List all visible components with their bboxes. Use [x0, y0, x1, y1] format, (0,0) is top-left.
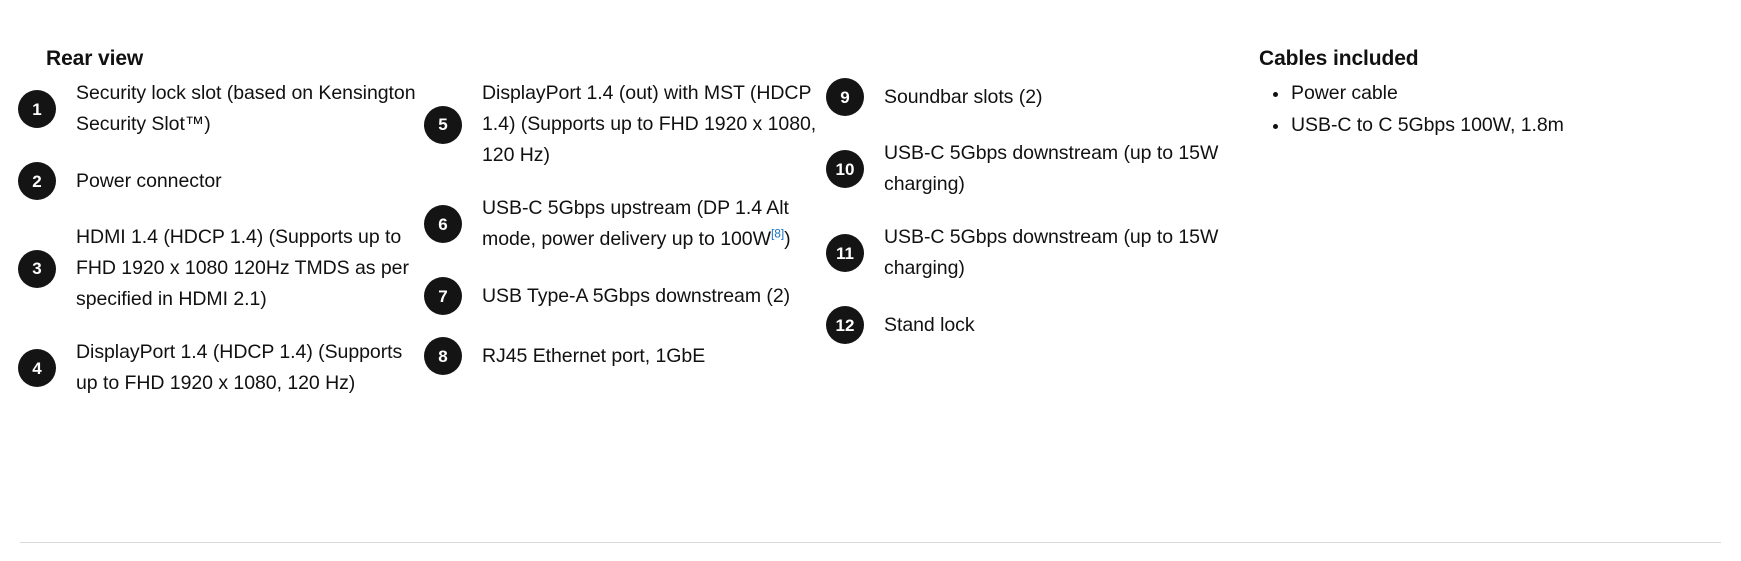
list-item: USB-C to C 5Gbps 100W, 1.8m	[1259, 110, 1729, 141]
port-number-badge: 3	[18, 250, 56, 288]
port-number-badge: 12	[826, 306, 864, 344]
port-label: USB Type-A 5Gbps downstream (2)	[482, 281, 790, 312]
cables-included-heading: Cables included	[1259, 47, 1419, 71]
port-label: Stand lock	[884, 310, 975, 341]
port-item-8: 8 RJ45 Ethernet port, 1GbE	[424, 337, 836, 375]
port-number-badge: 4	[18, 349, 56, 387]
port-number-badge: 5	[424, 106, 462, 144]
port-label: Security lock slot (based on Kensington …	[76, 78, 428, 140]
port-item-11: 11 USB-C 5Gbps downstream (up to 15W cha…	[826, 222, 1246, 284]
port-number-badge: 8	[424, 337, 462, 375]
port-label: Soundbar slots (2)	[884, 82, 1042, 113]
port-label: DisplayPort 1.4 (HDCP 1.4) (Supports up …	[76, 337, 428, 399]
port-label-text: USB-C 5Gbps upstream (DP 1.4 Alt mode, p…	[482, 197, 789, 250]
port-item-5: 5 DisplayPort 1.4 (out) with MST (HDCP 1…	[424, 78, 836, 171]
port-number-badge: 7	[424, 277, 462, 315]
port-label: DisplayPort 1.4 (out) with MST (HDCP 1.4…	[482, 78, 836, 171]
cables-included-section: Power cable USB-C to C 5Gbps 100W, 1.8m	[1259, 78, 1729, 142]
port-label: HDMI 1.4 (HDCP 1.4) (Supports up to FHD …	[76, 222, 428, 315]
ports-column-1: 1 Security lock slot (based on Kensingto…	[18, 78, 428, 421]
port-item-12: 12 Stand lock	[826, 306, 1246, 344]
footnote-reference-8[interactable]: [8]	[771, 227, 784, 241]
port-item-6: 6 USB-C 5Gbps upstream (DP 1.4 Alt mode,…	[424, 193, 836, 255]
port-number-badge: 2	[18, 162, 56, 200]
port-label: RJ45 Ethernet port, 1GbE	[482, 341, 705, 372]
ports-column-2: 5 DisplayPort 1.4 (out) with MST (HDCP 1…	[424, 78, 836, 397]
port-item-2: 2 Power connector	[18, 162, 428, 200]
port-label: USB-C 5Gbps downstream (up to 15W chargi…	[884, 222, 1246, 284]
port-number-badge: 9	[826, 78, 864, 116]
port-item-9: 9 Soundbar slots (2)	[826, 78, 1246, 116]
list-item: Power cable	[1259, 78, 1729, 109]
port-item-3: 3 HDMI 1.4 (HDCP 1.4) (Supports up to FH…	[18, 222, 428, 315]
port-label: USB-C 5Gbps upstream (DP 1.4 Alt mode, p…	[482, 193, 836, 255]
rear-view-heading: Rear view	[46, 47, 143, 71]
port-item-4: 4 DisplayPort 1.4 (HDCP 1.4) (Supports u…	[18, 337, 428, 399]
port-label: USB-C 5Gbps downstream (up to 15W chargi…	[884, 138, 1246, 200]
bottom-divider	[20, 542, 1721, 543]
port-item-1: 1 Security lock slot (based on Kensingto…	[18, 78, 428, 140]
port-item-7: 7 USB Type-A 5Gbps downstream (2)	[424, 277, 836, 315]
port-item-10: 10 USB-C 5Gbps downstream (up to 15W cha…	[826, 138, 1246, 200]
rear-view-spec-page: Rear view Cables included 1 Security loc…	[0, 0, 1741, 561]
port-number-badge: 10	[826, 150, 864, 188]
ports-column-3: 9 Soundbar slots (2) 10 USB-C 5Gbps down…	[826, 78, 1246, 366]
port-number-badge: 11	[826, 234, 864, 272]
port-label: Power connector	[76, 166, 222, 197]
port-label-text-end: )	[784, 228, 790, 250]
cables-list: Power cable USB-C to C 5Gbps 100W, 1.8m	[1259, 78, 1729, 141]
port-number-badge: 6	[424, 205, 462, 243]
port-number-badge: 1	[18, 90, 56, 128]
